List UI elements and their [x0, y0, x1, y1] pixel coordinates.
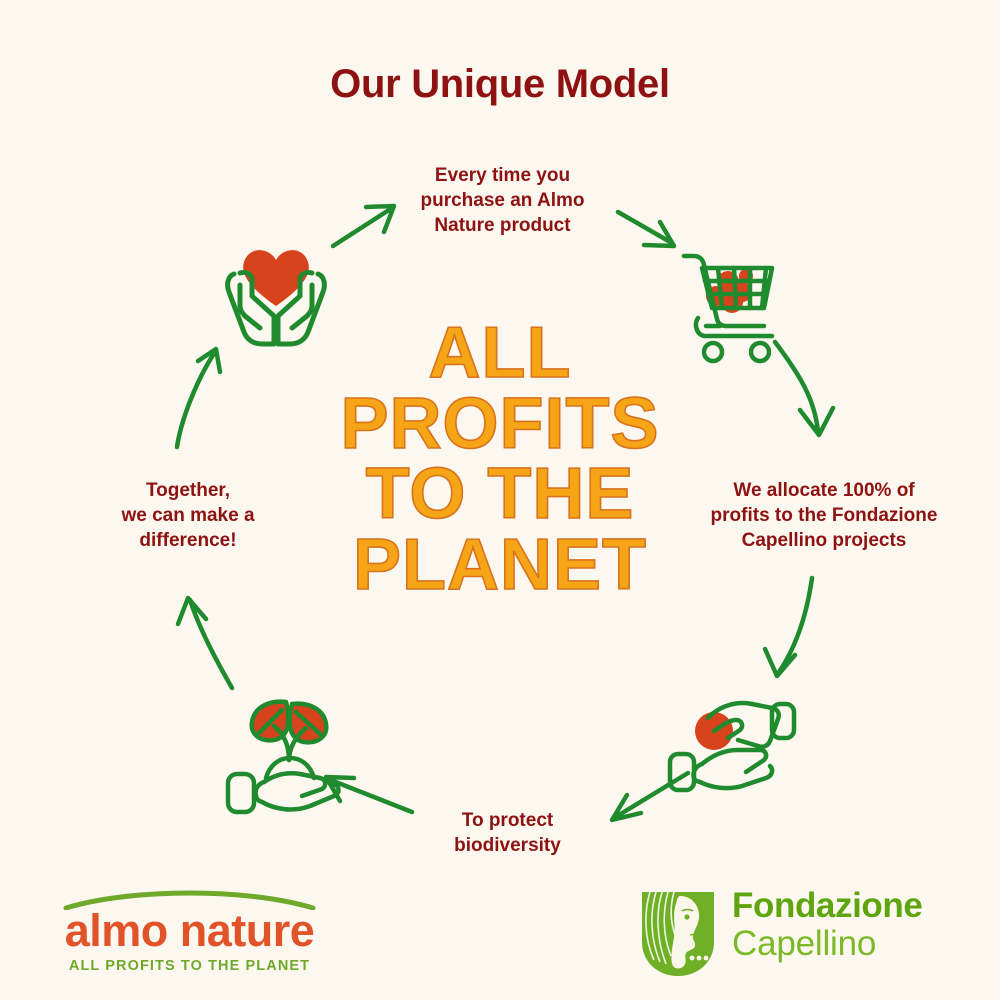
caption-step-difference: Together, we can make a difference! — [78, 478, 298, 553]
arrow-biodiversity-to-sprout — [326, 777, 412, 812]
infographic-canvas: Our Unique Model ALL PROFITS TO THE PLAN… — [0, 0, 1000, 1000]
arrow-sprout-to-difference — [178, 598, 232, 688]
fondazione-line2: Capellino — [732, 925, 942, 964]
fondazione-capellino-wordmark: Fondazione Capellino — [732, 888, 942, 963]
fondazione-line1: Fondazione — [732, 888, 942, 925]
almo-nature-wordmark: almo nature — [62, 908, 317, 953]
caption-step-purchase: Every time you purchase an Almo Nature p… — [380, 163, 625, 238]
arrow-purchase-to-cart — [618, 212, 674, 246]
arrow-difference-to-heart — [177, 349, 220, 447]
arrow-allocate-to-donate — [765, 578, 812, 676]
caption-step-biodiversity: To protect biodiversity — [400, 808, 615, 858]
caption-step-allocate: We allocate 100% of profits to the Fonda… — [678, 478, 970, 553]
arrow-donate-to-biodiversity — [612, 773, 688, 820]
page-title: Our Unique Model — [0, 62, 1000, 107]
almo-nature-tagline: ALL PROFITS TO THE PLANET — [62, 958, 317, 974]
hand-holding-sprout-icon — [228, 702, 339, 812]
hand-giving-coin-icon — [670, 703, 794, 790]
arrow-cart-to-allocate — [775, 342, 833, 435]
center-headline: ALL PROFITS TO THE PLANET — [300, 318, 700, 600]
shield-woman-profile-icon — [640, 890, 716, 978]
logo-fondazione-capellino[interactable]: Fondazione Capellino — [640, 888, 940, 980]
logo-almo-nature[interactable]: almo nature ALL PROFITS TO THE PLANET — [62, 888, 317, 980]
